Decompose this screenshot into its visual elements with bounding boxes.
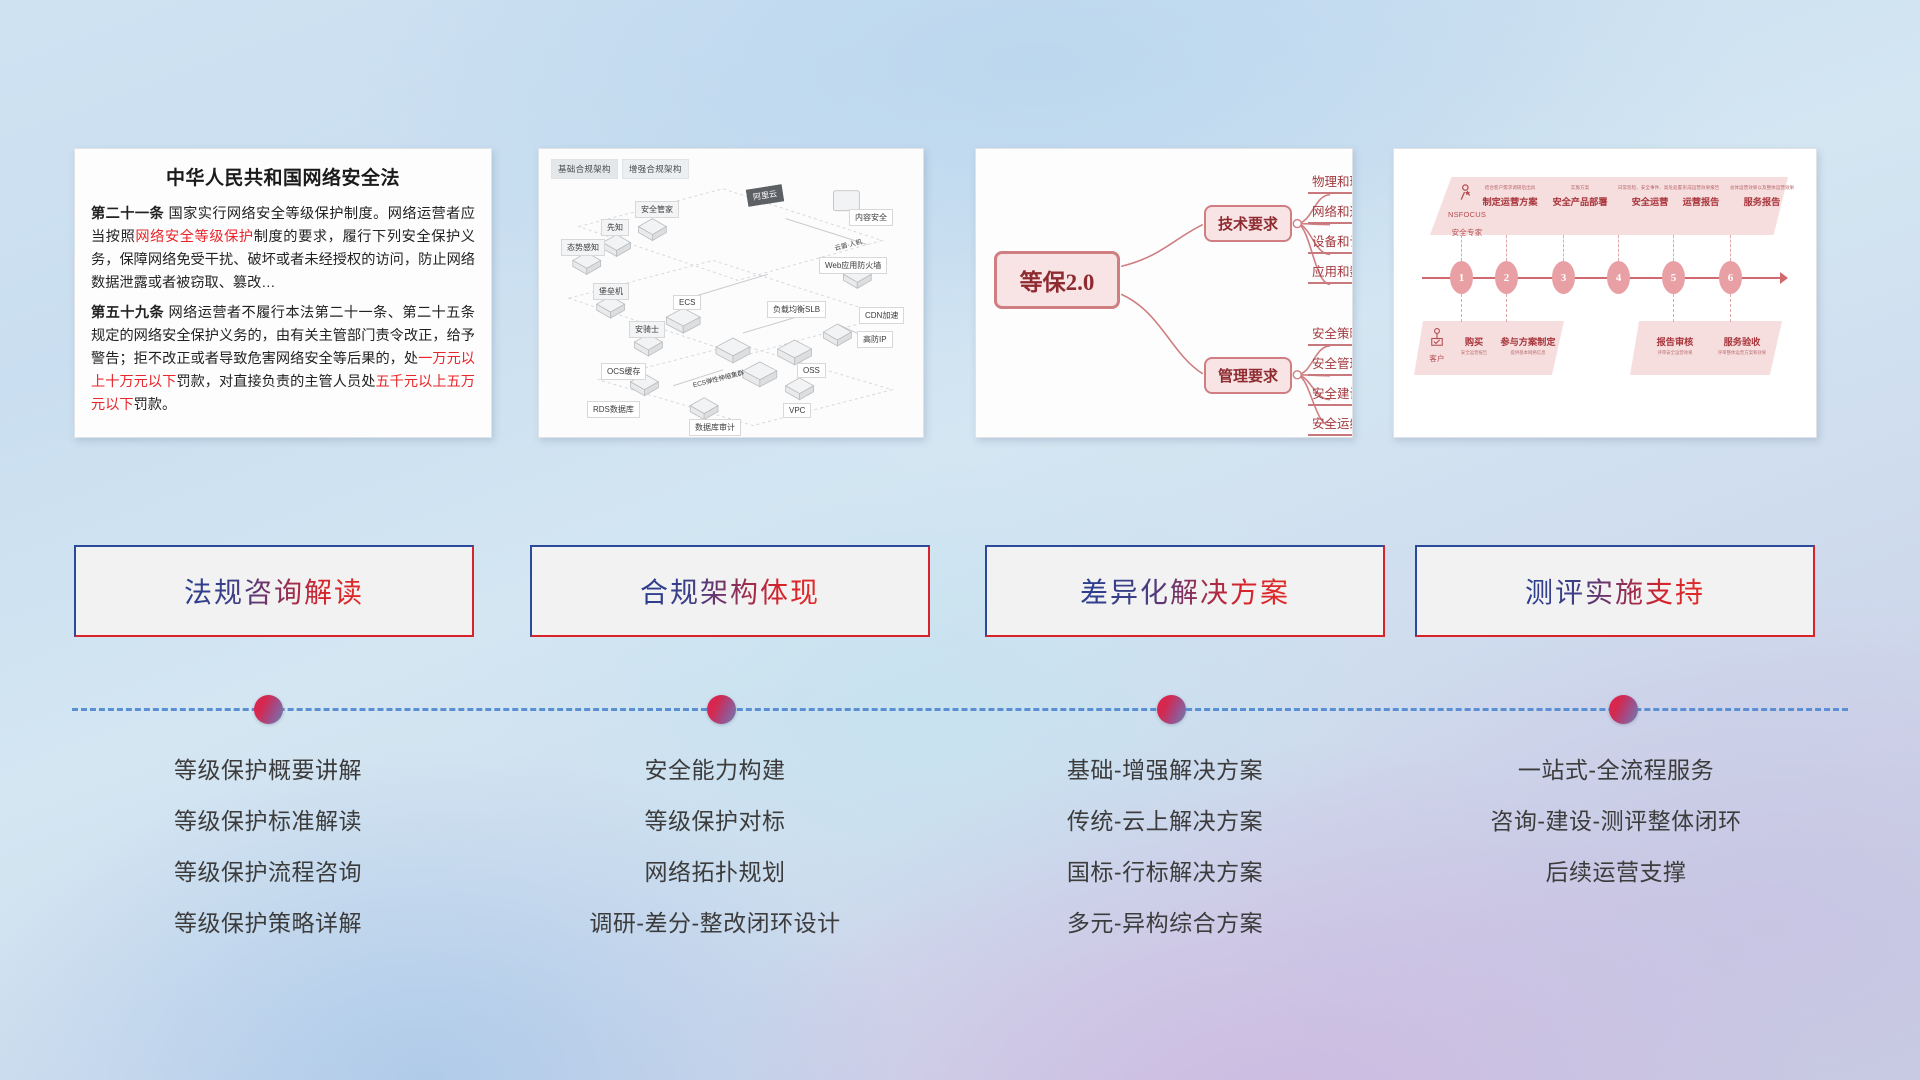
step-report-review-sub: 评审安全运营效果 (1644, 350, 1706, 356)
step-deploy-label: 安全产品部署 (1546, 194, 1614, 208)
node-label-oss: OSS (797, 363, 826, 378)
timeline-node-1: 1 (1450, 261, 1473, 294)
mindmap-leaf-device-compute: 设备和计算安全 (1308, 231, 1353, 254)
node-label-bastion-host: 堡垒机 (593, 283, 629, 300)
timeline-node-3: 3 (1552, 261, 1575, 294)
node-label-anti-ddos: 高防IP (857, 331, 893, 348)
list-item: 等级保护流程咨询 (48, 847, 488, 898)
node-label-content-security: 内容安全 (849, 209, 893, 226)
node-label-security-butler: 安全管家 (635, 201, 679, 218)
connector-3 (1563, 235, 1564, 261)
connector-2 (1506, 235, 1507, 261)
section-title-4: 测评实施支持 (1525, 571, 1705, 611)
service-timeline-card[interactable]: NSFOCUS 安全专家 结合客户需求调研后出具 制定运营方案 实施方案 安全产… (1393, 148, 1817, 438)
reference-cards-row: 中华人民共和国网络安全法 第二十一条 国家实行网络安全等级保护制度。网络运营者应… (0, 148, 1920, 438)
mindmap-leaf-app-data: 应用和数据安全 (1308, 261, 1353, 284)
node-label-situation-awareness: 态势感知 (561, 239, 605, 256)
detail-lists-row: 等级保护概要讲解 等级保护标准解读 等级保护流程咨询 等级保护策略详解 安全能力… (0, 745, 1920, 975)
timeline-dot-3[interactable] (1157, 695, 1186, 724)
connector-4 (1618, 235, 1619, 261)
article-21-highlight: 网络安全等级保护 (135, 229, 253, 245)
detail-list-4: 一站式-全流程服务 咨询-建设-测评整体闭环 后续运营支撑 (1396, 745, 1836, 898)
timeline-diagram: NSFOCUS 安全专家 结合客户需求调研后出具 制定运营方案 实施方案 安全产… (1394, 149, 1816, 437)
timeline-step-join-plan: 参与方案制定 提供基本网络信息 (1488, 331, 1568, 356)
mindmap-leaf-physical-env: 物理和环境安全 (1308, 171, 1353, 194)
architecture-diagram: 基础合规架构 增强合规架构 (539, 149, 923, 437)
node-label-db-audit: 数据库审计 (689, 419, 741, 436)
mindmap-leaf-construction-mgmt: 安全建设管理 (1308, 383, 1353, 406)
timeline-node-5: 5 (1662, 261, 1685, 294)
article-21-label: 第二十一条 (91, 206, 164, 222)
section-title-3: 差异化解决方案 (1080, 571, 1290, 611)
section-title-box-2[interactable]: 合规架构体现 (530, 545, 930, 637)
mindmap-leaf-policy-system: 安全策略和管理制度 (1308, 323, 1353, 346)
mpls-mindmap-card[interactable]: 等保2.0 技术要求 管理要求 物理和环境安全 网络和通信安全 设备和计算安全 … (975, 148, 1353, 438)
list-item: 多元-异构综合方案 (945, 898, 1385, 949)
mindmap-branch-management: 管理要求 (1204, 357, 1292, 394)
section-title-box-4[interactable]: 测评实施支持 (1415, 545, 1815, 637)
list-item: 安全能力构建 (495, 745, 935, 796)
node-label-rds-db: RDS数据库 (587, 401, 640, 418)
list-item: 国标-行标解决方案 (945, 847, 1385, 898)
article-59-label: 第五十九条 (91, 305, 164, 321)
mindmap-leaf-org-personnel: 安全管理机构和人员 (1308, 353, 1353, 376)
list-item: 网络拓扑规划 (495, 847, 935, 898)
detail-list-2: 安全能力构建 等级保护对标 网络拓扑规划 调研-差分-整改闭环设计 (495, 745, 935, 949)
detail-list-3: 基础-增强解决方案 传统-云上解决方案 国标-行标解决方案 多元-异构综合方案 (945, 745, 1385, 949)
step-report-review-label: 报告审核 (1644, 334, 1706, 348)
connector-1 (1461, 235, 1462, 261)
node-label-waf: Web应用防火墙 (819, 257, 887, 274)
node-label-ocs-cache: OCS缓存 (601, 363, 646, 380)
step-deploy-caption: 实施方案 (1546, 185, 1614, 191)
timeline-dot-4[interactable] (1609, 695, 1638, 724)
connector-b1 (1461, 294, 1462, 322)
list-item: 调研-差分-整改闭环设计 (495, 898, 935, 949)
section-title-box-1[interactable]: 法规咨询解读 (74, 545, 474, 637)
node-label-xianzhi: 先知 (601, 219, 629, 236)
node-label-vpc: VPC (783, 403, 811, 418)
step-plan-caption: 结合客户需求调研后出具 (1472, 185, 1548, 191)
step-join-plan-sub: 提供基本网络信息 (1488, 350, 1568, 356)
timeline-node-2: 2 (1495, 261, 1518, 294)
connector-b5 (1673, 294, 1674, 322)
list-item: 等级保护策略详解 (48, 898, 488, 949)
nsfocus-role-label: 安全专家 (1452, 228, 1483, 237)
section-title-2: 合规架构体现 (640, 571, 820, 611)
connector-b6 (1730, 294, 1731, 322)
timeline-step-service-report: 总体运营效果以及整体运营效果 服务报告 (1722, 185, 1802, 208)
timeline-arrow-icon (1780, 272, 1788, 284)
connector-5 (1673, 235, 1674, 261)
cybersecurity-law-card[interactable]: 中华人民共和国网络安全法 第二十一条 国家实行网络安全等级保护制度。网络运营者应… (74, 148, 492, 438)
law-title: 中华人民共和国网络安全法 (91, 163, 475, 190)
mindmap-diagram: 等保2.0 技术要求 管理要求 物理和环境安全 网络和通信安全 设备和计算安全 … (976, 149, 1352, 437)
list-item: 基础-增强解决方案 (945, 745, 1385, 796)
list-item: 等级保护标准解读 (48, 796, 488, 847)
timeline-step-deploy: 实施方案 安全产品部署 (1546, 185, 1614, 208)
node-label-cdn: CDN加速 (859, 307, 904, 324)
timeline-dot-2[interactable] (707, 695, 736, 724)
timeline-step-report-review: 报告审核 评审安全运营效果 (1644, 331, 1706, 356)
section-title-box-3[interactable]: 差异化解决方案 (985, 545, 1385, 637)
cloud-architecture-card[interactable]: 基础合规架构 增强合规架构 (538, 148, 924, 438)
section-title-1: 法规咨询解读 (184, 571, 364, 611)
mindmap-root-node: 等保2.0 (994, 251, 1120, 309)
list-item: 等级保护概要讲解 (48, 745, 488, 796)
customer-role-label: 客户 (1429, 354, 1444, 363)
section-title-row: 法规咨询解读 合规架构体现 差异化解决方案 测评实施支持 (0, 545, 1920, 637)
step-service-report-caption: 总体运营效果以及整体运营效果 (1722, 185, 1802, 191)
timeline-step-acceptance: 服务验收 评审整体运营方案和效果 (1706, 331, 1778, 356)
step-join-plan-label: 参与方案制定 (1488, 334, 1568, 348)
timeline-connector-row (0, 690, 1920, 730)
step-acceptance-label: 服务验收 (1706, 334, 1778, 348)
nsfocus-brand: NSFOCUS (1448, 210, 1486, 219)
law-article-21: 第二十一条 国家实行网络安全等级保护制度。网络运营者应当按照网络安全等级保护制度… (91, 203, 475, 295)
article-59-end: 罚款。 (134, 397, 177, 413)
timeline-dashed-line (72, 708, 1848, 711)
timeline-node-6: 6 (1719, 261, 1742, 294)
node-label-ecs: ECS (673, 295, 701, 310)
list-item: 后续运营支撑 (1396, 847, 1836, 898)
timeline-dot-1[interactable] (254, 695, 283, 724)
node-label-anqishi: 安骑士 (629, 321, 665, 338)
list-item: 一站式-全流程服务 (1396, 745, 1836, 796)
detail-list-1: 等级保护概要讲解 等级保护标准解读 等级保护流程咨询 等级保护策略详解 (48, 745, 488, 949)
step-acceptance-sub: 评审整体运营方案和效果 (1706, 350, 1778, 356)
customer-person-icon (1428, 327, 1446, 347)
step-service-report-label: 服务报告 (1722, 194, 1802, 208)
step-plan-label: 制定运营方案 (1472, 194, 1548, 208)
timeline-step-plan: 结合客户需求调研后出具 制定运营方案 (1472, 185, 1548, 208)
node-label-slb: 负载均衡SLB (767, 301, 826, 318)
timeline-node-4: 4 (1607, 261, 1630, 294)
law-card-body: 中华人民共和国网络安全法 第二十一条 国家实行网络安全等级保护制度。网络运营者应… (75, 149, 491, 434)
connector-6 (1730, 235, 1731, 261)
article-59-mid: 罚款，对直接负责的主管人员处 (176, 374, 375, 390)
list-item: 传统-云上解决方案 (945, 796, 1385, 847)
mindmap-leaf-ops-mgmt: 安全运维管理 (1308, 413, 1353, 436)
mindmap-leaf-network-comm: 网络和通信安全 (1308, 201, 1353, 224)
connector-b2 (1506, 294, 1507, 322)
law-article-59: 第五十九条 网络运营者不履行本法第二十一条、第二十五条规定的网络安全保护义务的，… (91, 302, 475, 417)
list-item: 等级保护对标 (495, 796, 935, 847)
mindmap-branch-technical: 技术要求 (1204, 205, 1292, 242)
list-item: 咨询-建设-测评整体闭环 (1396, 796, 1836, 847)
